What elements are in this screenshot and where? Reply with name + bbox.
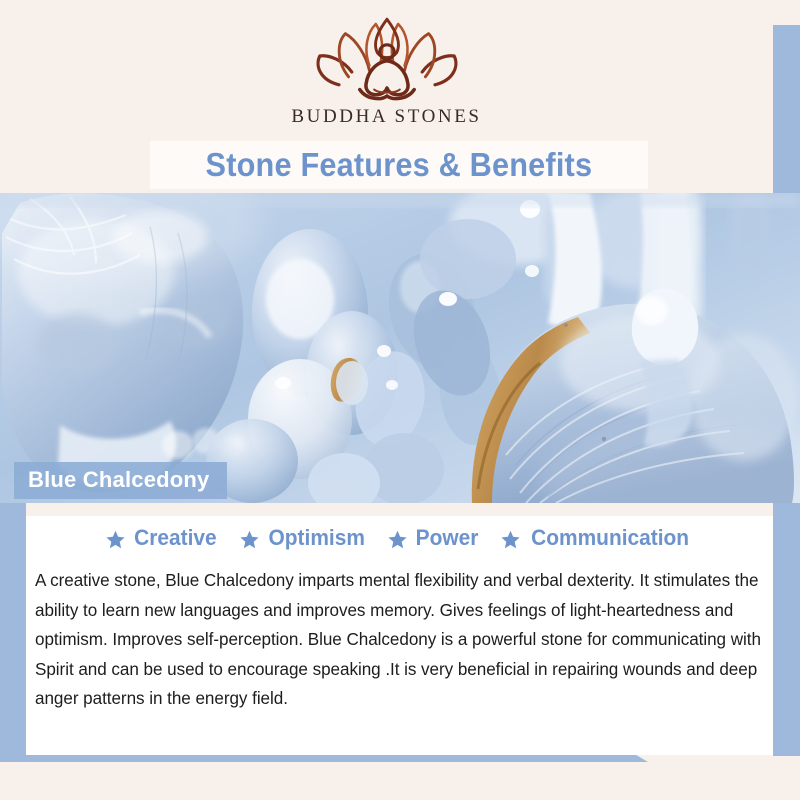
- keyword-label: Creative: [134, 525, 217, 551]
- star-icon: [240, 529, 259, 548]
- stone-photo: Blue Chalcedony: [0, 193, 800, 503]
- star-icon: [388, 529, 407, 548]
- stone-features-infographic: BUDDHA STONES Stone Features & Benefits: [0, 0, 800, 800]
- keyword-item: Power: [388, 525, 480, 551]
- photo-caption: Blue Chalcedony: [14, 462, 227, 499]
- star-icon: [106, 529, 125, 548]
- keyword-label: Power: [416, 525, 479, 551]
- keyword-label: Optimism: [268, 525, 364, 551]
- title-banner: Stone Features & Benefits: [150, 141, 648, 189]
- page-title: Stone Features & Benefits: [206, 146, 593, 184]
- keyword-item: Optimism: [240, 525, 367, 551]
- header: BUDDHA STONES Stone Features & Benefits: [0, 0, 773, 193]
- keyword-item: Creative: [106, 525, 219, 551]
- star-icon: [501, 529, 520, 548]
- content-panel: Creative Optimism Power: [26, 503, 773, 755]
- keyword-label: Communication: [531, 525, 689, 551]
- brand-wordmark: BUDDHA STONES: [291, 106, 481, 128]
- brand-logo: BUDDHA STONES: [0, 16, 773, 128]
- keyword-item: Communication: [501, 525, 693, 551]
- panel-top-tint: [26, 503, 773, 516]
- keyword-list: Creative Optimism Power: [26, 525, 773, 551]
- lotus-meditation-figure-icon: [307, 16, 467, 102]
- decorative-band-left: [0, 500, 26, 762]
- description-text: A creative stone, Blue Chalcedony impart…: [35, 566, 767, 714]
